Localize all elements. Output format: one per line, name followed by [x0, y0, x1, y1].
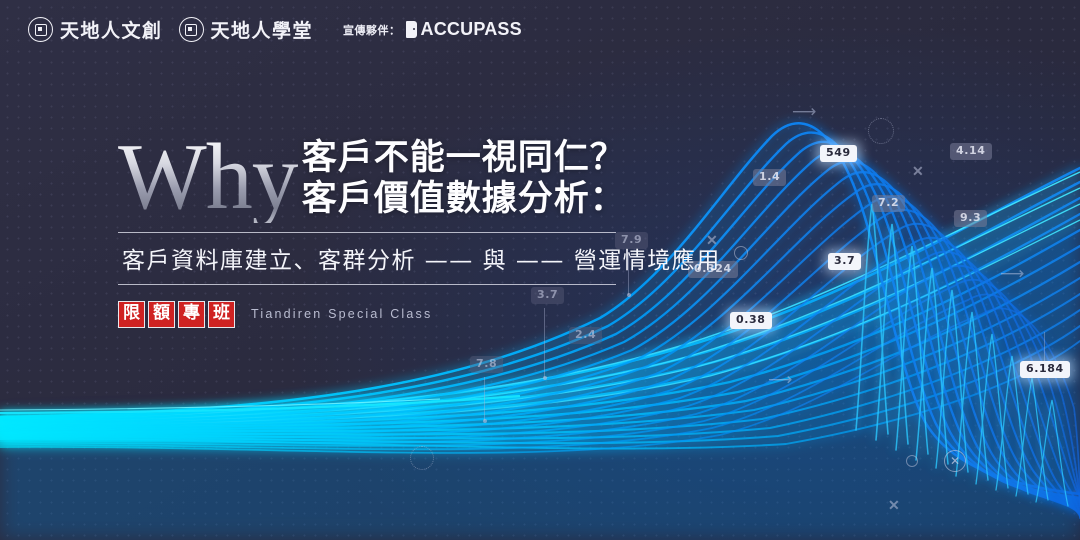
data-label: 4.14: [950, 143, 992, 160]
badge-char: 專: [178, 301, 205, 328]
data-label: 1.4: [753, 169, 786, 186]
badge-row: 限 額 專 班 Tiandiren Special Class: [118, 301, 638, 328]
brand-tiandiren-culture[interactable]: 天地人文創: [28, 16, 163, 43]
brand-label: 天地人學堂: [211, 16, 314, 43]
badge-char: 限: [118, 301, 145, 328]
headline-group: 客戶不能一視同仁？ 客戶價值數據分析：: [302, 138, 626, 221]
data-label: 3.7: [828, 253, 861, 270]
brand-label: 天地人文創: [60, 16, 163, 43]
title-divider-bottom: [118, 284, 616, 285]
why-wordmark: Why: [118, 132, 298, 223]
badge-char: 班: [208, 301, 235, 328]
square-in-circle-logo-icon: [28, 17, 53, 42]
brand-tiandiren-academy[interactable]: 天地人學堂: [179, 16, 314, 43]
partner-label: 宣傳夥伴：: [343, 22, 401, 38]
data-label: 7.8: [470, 356, 503, 373]
data-label: 549: [820, 145, 857, 162]
data-label: 2.4: [569, 327, 602, 344]
badge-english-label: Tiandiren Special Class: [251, 307, 432, 321]
accupass-label: ACCUPASS: [421, 19, 522, 40]
header-bar: 天地人文創 天地人學堂 宣傳夥伴： ACCUPASS: [28, 16, 522, 43]
data-label: 7.2: [872, 195, 905, 212]
subtitle: 客戶資料庫建立、客群分析 —— 與 —— 營運情境應用: [122, 241, 638, 275]
headline-line-2: 客戶價值數據分析：: [302, 179, 626, 220]
accupass-door-icon: [406, 21, 417, 38]
limited-class-badge: 限 額 專 班: [118, 301, 235, 328]
data-label: 6.184: [1020, 361, 1070, 378]
promotion-partner: 宣傳夥伴： ACCUPASS: [343, 19, 522, 40]
hero-title-row: Why 客戶不能一視同仁？ 客戶價值數據分析：: [118, 128, 638, 223]
event-banner: ✕ ✕ ✕ ✕ ⟶ ⟶ ⟶ 549 1.4 4.14 7.2 9.3 3.7 0…: [0, 0, 1080, 540]
badge-char: 額: [148, 301, 175, 328]
square-in-circle-logo-icon: [179, 17, 204, 42]
headline-line-1: 客戶不能一視同仁？: [302, 138, 626, 179]
data-label: 0.38: [730, 312, 772, 329]
tag-stem: [484, 377, 485, 421]
hero-title-block: Why 客戶不能一視同仁？ 客戶價值數據分析： 客戶資料庫建立、客群分析 —— …: [118, 128, 638, 328]
title-divider-top: [118, 232, 616, 233]
accupass-logo[interactable]: ACCUPASS: [406, 19, 522, 40]
data-label: 9.3: [954, 210, 987, 227]
